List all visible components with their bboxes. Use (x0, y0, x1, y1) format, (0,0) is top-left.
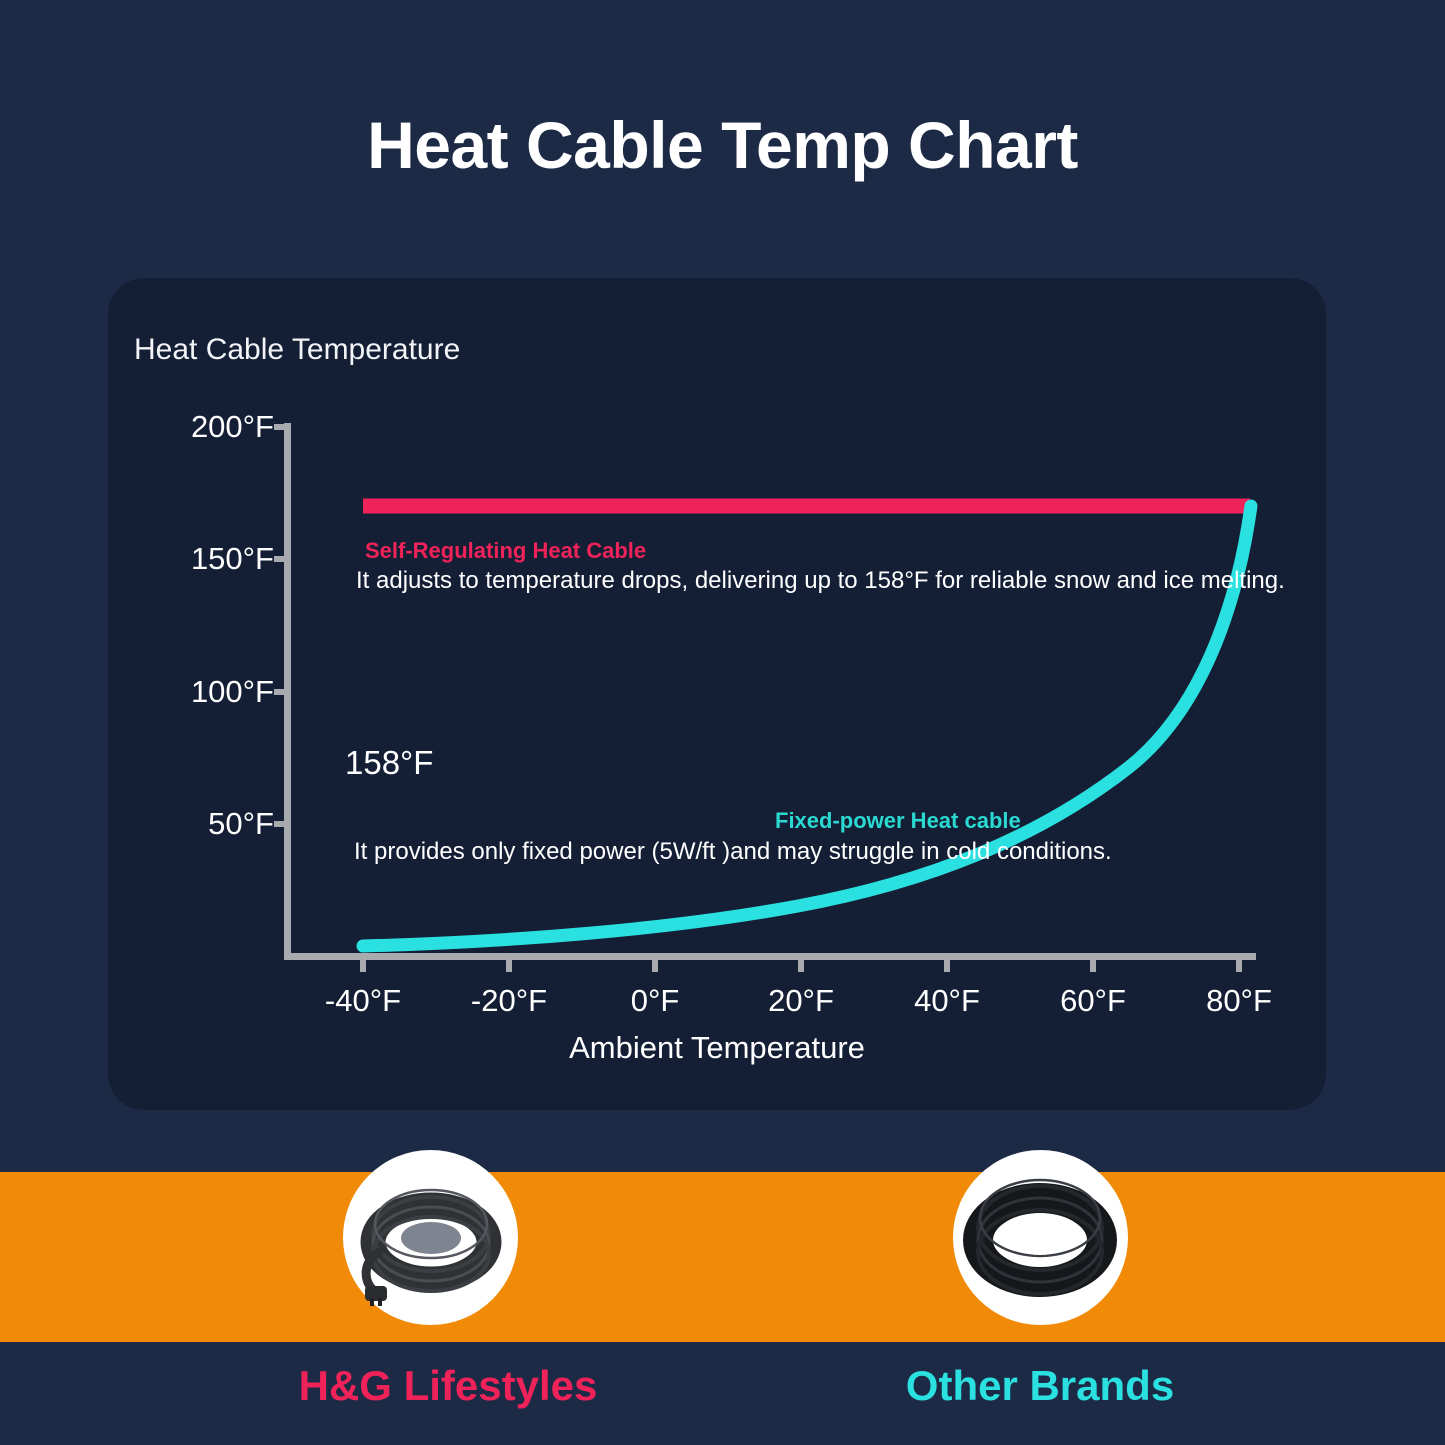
page-title: Heat Cable Temp Chart (0, 112, 1445, 178)
xtick-label-40: 40°F (877, 983, 1017, 1019)
xtick-label-0: 0°F (585, 983, 725, 1019)
xtick-label-minus40: -40°F (293, 983, 433, 1019)
ytick-label-200: 200°F (114, 409, 274, 445)
series-description-self-regulating: It adjusts to temperature drops, deliver… (356, 567, 1285, 595)
coiled-heat-cable-with-plug-icon (343, 1150, 518, 1325)
series-description-fixed-power: It provides only fixed power (5W/ft )and… (354, 838, 1112, 866)
xtick-label-80: 80°F (1169, 983, 1309, 1019)
chart-card: Heat Cable Temperature 200°F 15 (108, 278, 1326, 1110)
ytick-label-50: 50°F (114, 806, 274, 842)
product-image-other (953, 1150, 1128, 1325)
coiled-heat-cable-icon (953, 1150, 1128, 1325)
x-axis-title: Ambient Temperature (108, 1030, 1326, 1066)
x-axis-line (284, 953, 1256, 960)
xtick-label-20: 20°F (731, 983, 871, 1019)
ytick-label-150: 150°F (114, 541, 274, 577)
series-label-self-regulating: Self-Regulating Heat Cable (365, 538, 646, 564)
brand-label-ours: H&G Lifestyles (238, 1362, 658, 1410)
product-image-ours (343, 1150, 518, 1325)
series-label-fixed-power: Fixed-power Heat cable (775, 808, 1021, 834)
ytick-label-100: 100°F (114, 674, 274, 710)
x-axis-ticks (360, 958, 1242, 972)
xtick-label-60: 60°F (1023, 983, 1163, 1019)
peak-value-label: 158°F (345, 744, 433, 782)
xtick-label-minus20: -20°F (439, 983, 579, 1019)
brand-label-other: Other Brands (830, 1362, 1250, 1410)
comparison-band (0, 1172, 1445, 1342)
